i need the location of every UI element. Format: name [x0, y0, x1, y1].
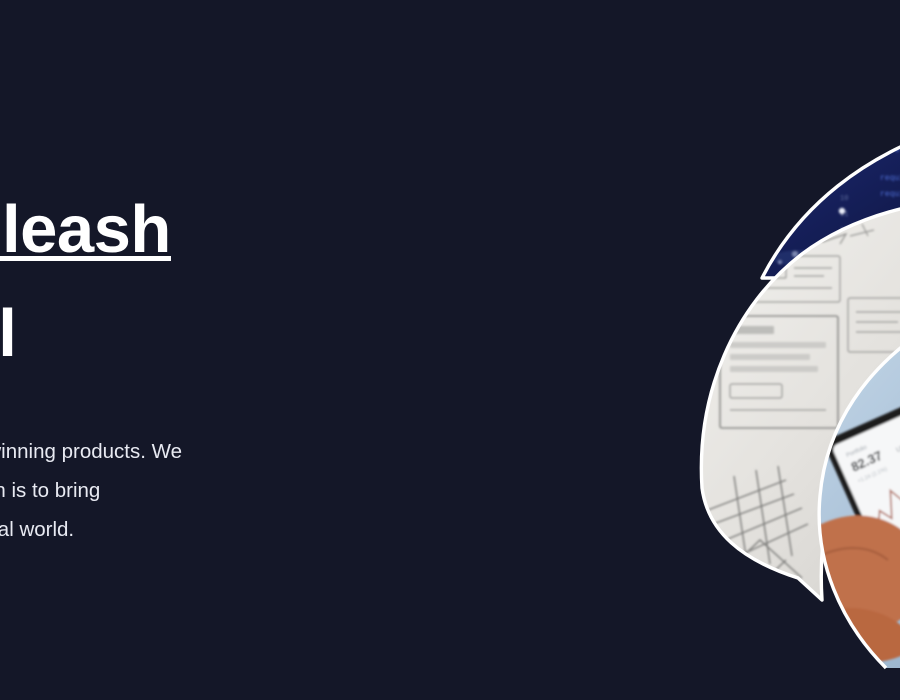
hero-description-line-2: narkable brands. Our mission is to bring — [0, 471, 618, 510]
hero-copy: ed to Unleash Potential ommitted to prov… — [0, 178, 618, 549]
three-petal-spiral-collage: 7 8 9 10 11 12 require require require r… — [690, 108, 900, 668]
heading-underlined-word: Unleash — [0, 178, 171, 282]
page-title: ed to Unleash Potential — [0, 178, 618, 386]
heading-line-1: ed to Unleash — [0, 178, 618, 282]
heading-line-2: Potential — [0, 282, 618, 386]
hero-description-line-3: d transformation to your digital world. — [0, 510, 618, 549]
svg-text:8: 8 — [840, 163, 844, 171]
svg-text:require: require — [866, 130, 900, 139]
hero-section: ed to Unleash Potential ommitted to prov… — [0, 0, 900, 700]
svg-text:require: require — [880, 174, 900, 183]
hero-description: ommitted to provide award-winning produc… — [0, 432, 618, 549]
svg-text:10: 10 — [840, 195, 848, 203]
hero-description-line-1: ommitted to provide award-winning produc… — [0, 432, 618, 471]
svg-text:7: 7 — [840, 147, 844, 155]
hero-graphic: 7 8 9 10 11 12 require require require r… — [690, 108, 900, 668]
svg-text:require: require — [880, 190, 900, 199]
